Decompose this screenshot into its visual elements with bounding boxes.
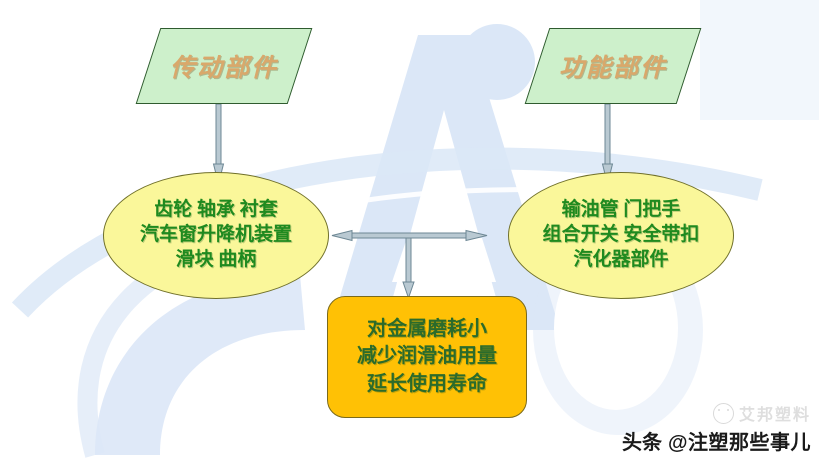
node-transmission-examples-label: 齿轮 轴承 衬套 汽车窗升降机装置 滑块 曲柄 (140, 198, 292, 272)
node-benefits[interactable]: 对金属磨耗小 减少润滑油用量 延长使用寿命 (327, 296, 527, 418)
text-line: 对金属磨耗小 (357, 316, 497, 344)
text-line: 输油管 门把手 (543, 198, 700, 223)
text-line: 汽化器部件 (543, 248, 700, 273)
text-line: 齿轮 轴承 衬套 (140, 198, 292, 223)
node-benefits-label: 对金属磨耗小 减少润滑油用量 延长使用寿命 (357, 316, 497, 399)
node-functional-examples[interactable]: 输油管 门把手 组合开关 安全带扣 汽化器部件 (508, 172, 734, 299)
diagram-canvas: 传动部件 功能部件 齿轮 轴承 衬套 汽车窗升降机装置 滑块 曲柄 输油管 门把… (0, 0, 819, 459)
text-line: 延长使用寿命 (357, 371, 497, 399)
text-line: 减少润滑油用量 (357, 343, 497, 371)
node-functional-parts[interactable]: 功能部件 (525, 28, 702, 104)
text-line: 滑块 曲柄 (140, 248, 292, 273)
text-line: 组合开关 安全带扣 (543, 223, 700, 248)
node-transmission-examples[interactable]: 齿轮 轴承 衬套 汽车窗升降机装置 滑块 曲柄 (103, 172, 329, 299)
node-transmission-parts[interactable]: 传动部件 (136, 28, 313, 104)
text-line: 汽车窗升降机装置 (140, 223, 292, 248)
node-transmission-parts-label: 传动部件 (170, 48, 278, 84)
node-functional-examples-label: 输油管 门把手 组合开关 安全带扣 汽化器部件 (543, 198, 700, 272)
node-functional-parts-label: 功能部件 (559, 48, 667, 84)
